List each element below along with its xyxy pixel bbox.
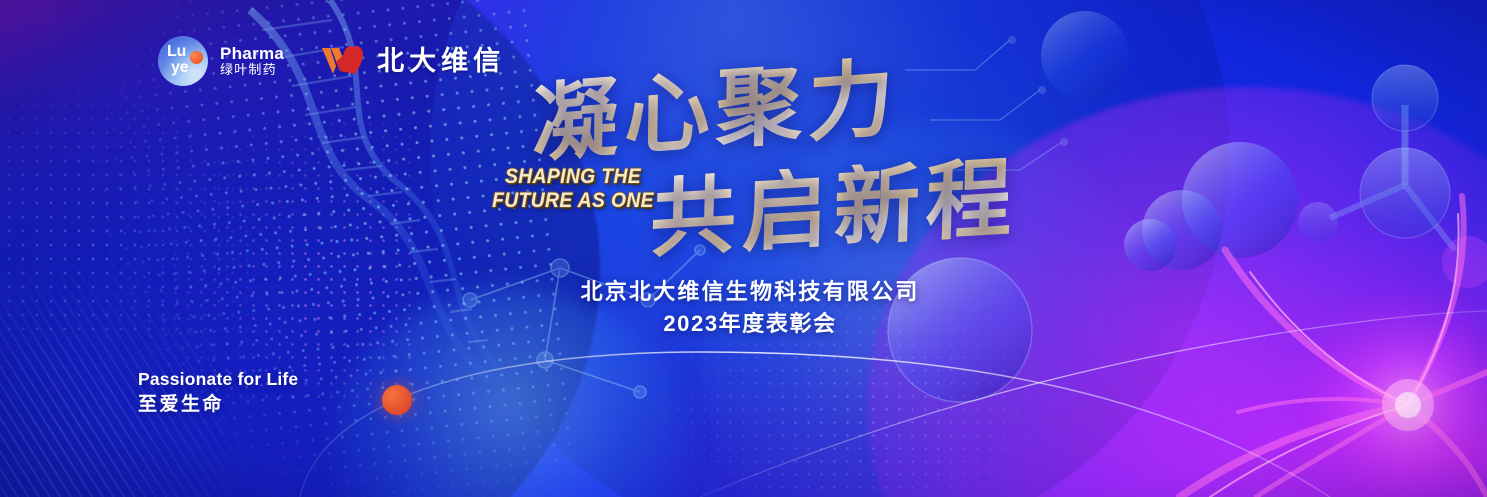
luye-wordmark: Pharma 绿叶制药 xyxy=(220,44,284,78)
subtitle-block: 北京北大维信生物科技有限公司 2023年度表彰会 xyxy=(470,276,1030,340)
title-english: SHAPING THE FUTURE AS ONE xyxy=(486,165,661,212)
luye-orange-dot-icon xyxy=(190,51,203,64)
luye-mark-ye: ye xyxy=(171,60,188,76)
slogan-block: Passionate for Life 至爱生命 xyxy=(138,367,298,419)
logo-row: Lu ye Pharma 绿叶制药 北大维信 xyxy=(158,36,505,86)
title-english-line1: SHAPING THE xyxy=(486,165,661,189)
event-banner: Lu ye Pharma 绿叶制药 北大维信 凝心聚力 共启新程 SHAPING… xyxy=(0,0,1487,497)
slogan-chinese: 至爱生命 xyxy=(138,392,298,419)
main-title-block: 凝心聚力 共启新程 SHAPING THE FUTURE AS ONE xyxy=(470,58,1010,258)
subtitle-event: 2023年度表彰会 xyxy=(470,308,1030,340)
slogan-english: Passionate for Life xyxy=(138,367,298,392)
title-calligraphy-line2: 共启新程 xyxy=(649,155,1019,263)
luye-name-cn: 绿叶制药 xyxy=(220,63,284,78)
luye-name-en: Pharma xyxy=(220,44,284,63)
luye-pharma-logo: Lu ye Pharma 绿叶制药 xyxy=(158,36,284,86)
title-english-line2: FUTURE AS ONE xyxy=(486,189,661,213)
title-calligraphy-line1: 凝心聚力 xyxy=(532,54,900,167)
heart-w-icon xyxy=(320,44,364,78)
orange-accent-dot-icon xyxy=(382,385,412,415)
subtitle-company: 北京北大维信生物科技有限公司 xyxy=(470,276,1030,308)
luye-mark-lu: Lu xyxy=(167,44,186,60)
luye-circle-icon: Lu ye xyxy=(158,36,208,86)
